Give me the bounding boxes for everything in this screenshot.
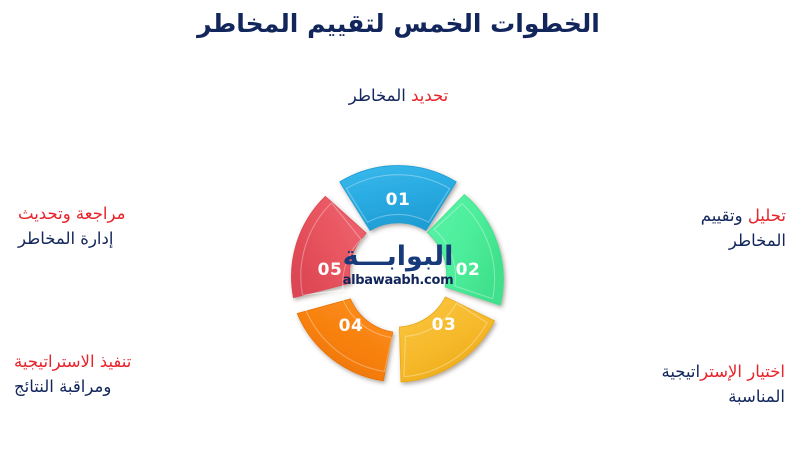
page-title: الخطوات الخمس لتقييم المخاطر	[0, 8, 797, 39]
step-label-05-line2: إدارة المخاطر	[18, 227, 228, 252]
step-label-05: مراجعة وتحديث إدارة المخاطر	[18, 202, 228, 252]
step-label-02-base: وتقييم	[701, 206, 748, 225]
step-label-05-accent: مراجعة وتحديث	[18, 202, 228, 227]
step-label-03-accent: اختيار الإستر	[700, 362, 785, 381]
step-label-02-line2: المخاطر	[586, 229, 786, 254]
step-label-03-line2: المناسبة	[545, 385, 785, 410]
step-label-03-base: اتيجية	[661, 362, 700, 381]
step-label-02-accent: تحليل	[748, 206, 786, 225]
infographic-canvas: الخطوات الخمس لتقييم المخاطر	[0, 0, 797, 451]
segment-number-03: 03	[432, 315, 457, 335]
step-label-01-base: المخاطر	[349, 86, 411, 105]
wheel-segment-04[interactable]: 04	[297, 299, 393, 381]
step-label-02: تحليل وتقييم المخاطر	[586, 204, 786, 254]
segment-number-01: 01	[386, 190, 411, 210]
step-label-04: تنفيذ الاستراتيجية ومراقبة النتائج	[14, 350, 244, 400]
wheel-segment-03[interactable]: 03	[399, 297, 494, 382]
logo-wordmark: البوابـــة	[328, 243, 468, 270]
step-label-01: تحديد المخاطر	[0, 84, 797, 109]
step-label-04-accent: تنفيذ الاستراتيجية	[14, 350, 244, 375]
center-logo: البوابـــة albawaabh.com	[328, 243, 468, 288]
step-label-03: اختيار الإستراتيجية المناسبة	[545, 360, 785, 410]
segment-number-04: 04	[339, 316, 364, 336]
step-label-04-line2: ومراقبة النتائج	[14, 375, 244, 400]
logo-domain: albawaabh.com	[328, 273, 468, 288]
step-label-01-accent: تحديد	[411, 86, 448, 105]
